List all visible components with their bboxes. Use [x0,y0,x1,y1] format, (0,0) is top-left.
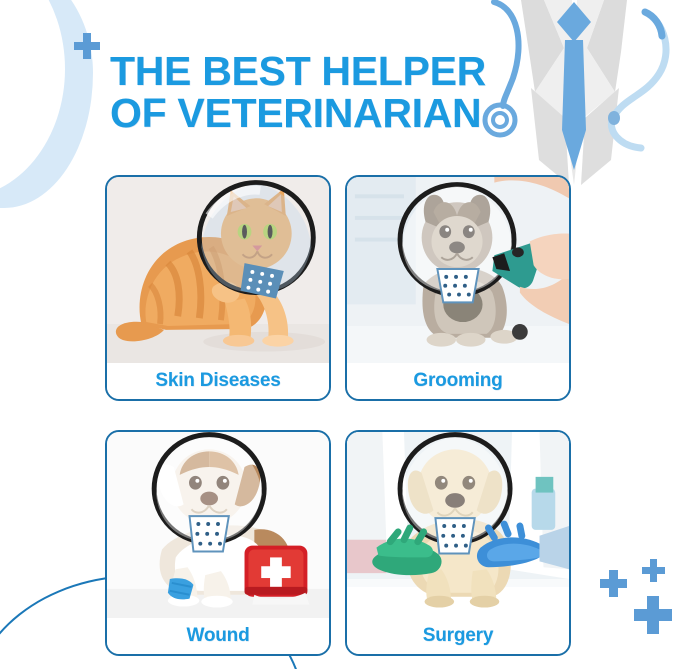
puppy-surgery-illustration [347,432,569,618]
dog-first-aid-illustration [107,432,329,618]
card-label-surgery: Surgery [347,618,569,654]
feature-card-grooming[interactable]: Grooming [345,175,571,401]
infographic-canvas: THE BEST HELPER OF VETERINARIAN [0,0,679,669]
card-photo-skin-diseases [107,177,329,363]
card-label-wound: Wound [107,618,329,654]
plus-icon-bottom-small [642,559,665,582]
cat-scratching-illustration [107,177,329,363]
stethoscope-left-bell-outer [485,105,515,135]
header-artwork [469,0,679,185]
card-label-skin-diseases: Skin Diseases [107,363,329,399]
tie-body [562,40,586,170]
stethoscope-right-earpiece [608,111,620,125]
coat-left-skirt [531,88,569,185]
feature-card-surgery[interactable]: Surgery [345,430,571,656]
page-title: THE BEST HELPER OF VETERINARIAN [110,50,486,134]
coat-right-panel [575,0,615,120]
plus-icon-bottom-large [634,596,672,634]
coat-right-skirt [581,88,619,185]
plus-icon-bottom-medium [600,570,627,597]
card-photo-wound [107,432,329,618]
card-photo-surgery [347,432,569,618]
coat-left-lapel [521,0,564,92]
stethoscope-left-tube [494,2,519,106]
coat-right-lapel [587,0,627,92]
coat-left-panel [535,0,574,120]
card-photo-grooming [347,177,569,363]
card-label-grooming: Grooming [347,363,569,399]
stethoscope-right-tube [611,12,666,148]
stethoscope-left-bell-inner [493,113,507,127]
feature-card-skin-diseases[interactable]: Skin Diseases [105,175,331,401]
feature-card-grid: Skin Diseases [105,175,571,663]
stethoscope-right-tip [645,12,662,36]
plus-icon-title [74,33,100,59]
tie-knot [557,2,591,42]
feature-card-wound[interactable]: Wound [105,430,331,656]
yorkie-grooming-illustration [347,177,569,363]
